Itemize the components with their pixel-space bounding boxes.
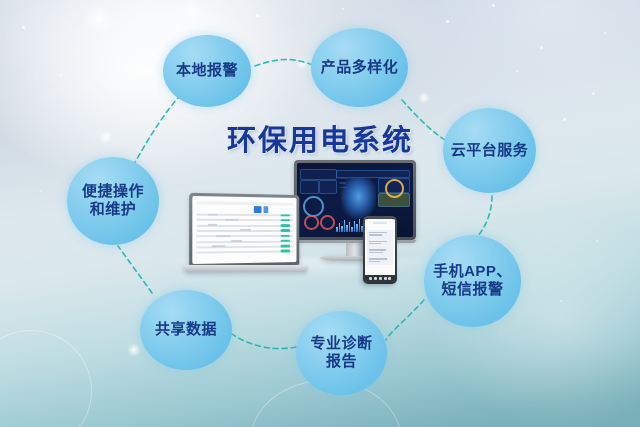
china-map-visual (341, 178, 376, 219)
bubble-label-line2: 和维护 (82, 201, 144, 219)
connector-easy-to-local (133, 96, 180, 166)
bubble-label-line2: 报告 (310, 353, 372, 371)
connector-share-to-easy (118, 246, 152, 293)
laptop (189, 193, 299, 267)
device-cluster (190, 158, 430, 313)
laptop-screen (192, 196, 296, 264)
bubble-product-variety[interactable]: 产品多样化 (311, 28, 408, 107)
bubble-shared-data[interactable]: 共享数据 (140, 290, 232, 370)
bubble-label-line1: 手机APP、 (433, 263, 512, 281)
bubble-label: 云平台服务 (451, 142, 529, 160)
bubble-label: 共享数据 (155, 321, 217, 339)
poster-canvas: 环保用电系统 (0, 0, 640, 427)
bubble-label-line2: 短信报警 (433, 281, 512, 299)
bubble-mobile-app-sms[interactable]: 手机APP、 短信报警 (424, 235, 521, 327)
bubble-local-alarm[interactable]: 本地报警 (163, 35, 251, 107)
bubble-diagnosis-report[interactable]: 专业诊断 报告 (296, 311, 387, 395)
bubble-cloud-platform[interactable]: 云平台服务 (443, 108, 536, 193)
bubble-label-line1: 便捷操作 (82, 183, 144, 201)
page-title: 环保用电系统 (227, 117, 413, 159)
bubble-label-line1: 专业诊断 (310, 335, 372, 353)
desktop-monitor (294, 160, 416, 240)
bubble-label: 本地报警 (176, 62, 238, 80)
connector-local-to-product (255, 59, 315, 66)
connector-cloud-to-app (478, 196, 492, 236)
bubble-easy-operation[interactable]: 便捷操作 和维护 (67, 157, 159, 245)
phone-screen (365, 219, 395, 282)
laptop-base (184, 265, 308, 272)
smartphone (363, 216, 397, 284)
monitor-bezel-bottom (294, 240, 416, 243)
connector-report-to-share (232, 334, 296, 349)
bubble-label: 产品多样化 (321, 59, 399, 77)
